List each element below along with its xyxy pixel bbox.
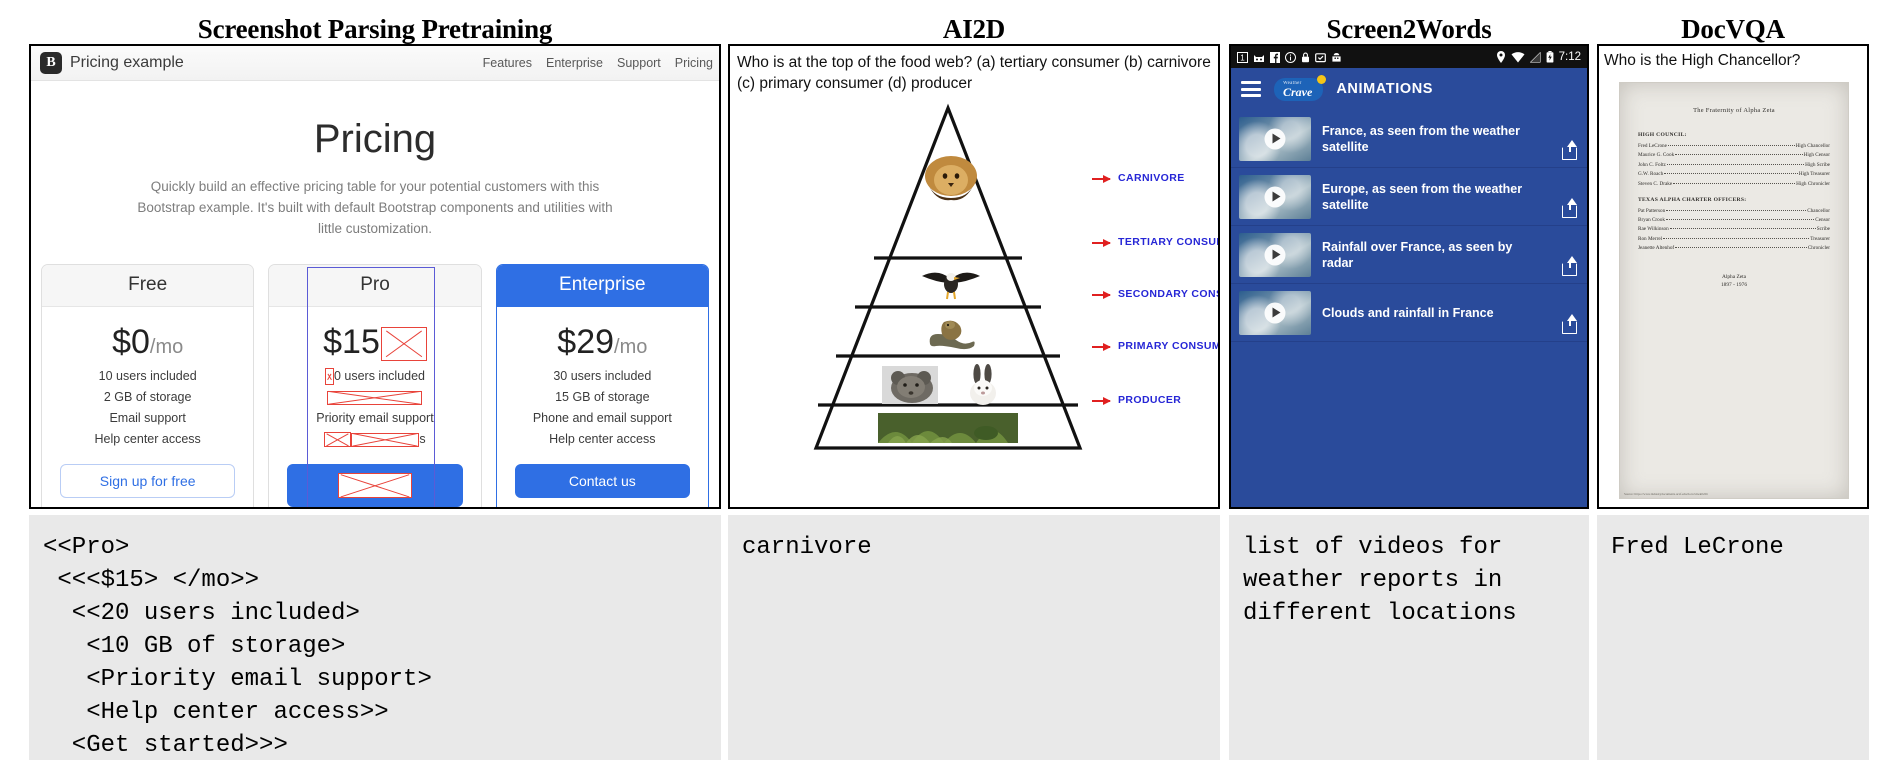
play-icon[interactable] — [1265, 302, 1286, 323]
document-row: Ron Merrel Treasurer — [1638, 236, 1830, 242]
column-title-text: Screenshot Parsing Pretraining — [198, 14, 552, 44]
crave-logo: Weather Crave — [1274, 78, 1323, 101]
card-cta-wrap: Sign up for free — [42, 464, 253, 509]
leader-dots — [1666, 219, 1814, 220]
share-icon[interactable] — [1562, 321, 1577, 334]
officer-name: Pat Patterson — [1638, 208, 1665, 214]
leader-dots — [1673, 183, 1795, 184]
arrow-tertiary-consumer — [1092, 242, 1110, 244]
bootstrap-logo-icon: B — [40, 52, 62, 74]
officer-role: High Scribe — [1805, 162, 1830, 168]
feature-item: Priority email support — [269, 408, 480, 429]
feature-item: Help center access — [42, 429, 253, 450]
feature-item: Email support — [42, 408, 253, 429]
food-pyramid-diagram: CARNIVORE TERTIARY CONSUMER — [730, 98, 1218, 507]
app-bar-title: ANIMATIONS — [1336, 81, 1433, 97]
feature-item: 10 users included — [42, 366, 253, 387]
price-amount: $15 — [323, 323, 380, 361]
nav-link-enterprise[interactable]: Enterprise — [546, 56, 603, 70]
officer-role: Chronicler — [1808, 245, 1830, 251]
video-thumbnail — [1239, 291, 1311, 335]
officer-role: Chancellor — [1807, 208, 1830, 214]
card-features: 0 users included Priority email support … — [269, 366, 480, 464]
card-cta-wrap: Contact us — [497, 464, 708, 509]
footer-name: Alpha Zeta — [1638, 273, 1830, 281]
bootstrap-navbar: B Pricing example Features Enterprise Su… — [31, 46, 719, 81]
video-title: France, as seen from the weather satelli… — [1322, 123, 1527, 155]
card-title: Free — [42, 265, 253, 307]
officer-name: Bryan Crook — [1638, 217, 1665, 223]
column-title-text: Screen2Words — [1326, 14, 1491, 44]
video-thumbnail — [1239, 233, 1311, 277]
lion-image — [920, 154, 982, 202]
officer-role: High Censor — [1804, 152, 1830, 158]
arrow-producer — [1092, 400, 1110, 402]
column-title-screen2words: Screen2Words — [1229, 14, 1589, 45]
status-clock: 7:12 — [1559, 51, 1581, 63]
masked-feature-line — [327, 391, 422, 405]
leader-dots — [1666, 210, 1806, 211]
app-bar: Weather Crave ANIMATIONS — [1231, 68, 1587, 110]
masked-digit — [325, 368, 334, 385]
document-row: Rae Wilkinson Scribe — [1638, 226, 1830, 232]
card-price: $29/mo — [497, 307, 708, 366]
pricing-card-pro: Pro $15 0 users included Priority email … — [268, 264, 481, 509]
leader-dots — [1664, 173, 1797, 174]
masked-feature-start — [324, 432, 351, 447]
ai2d-question: Who is at the top of the food web? (a) t… — [737, 52, 1211, 94]
mouse-image — [882, 366, 938, 404]
price-period: /mo — [614, 336, 647, 358]
nav-link-support[interactable]: Support — [617, 56, 661, 70]
hamburger-icon[interactable] — [1241, 81, 1261, 97]
officer-name: Ron Merrel — [1638, 236, 1662, 242]
officer-role: High Treasurer — [1799, 171, 1830, 177]
label-carnivore: CARNIVORE — [1118, 172, 1185, 184]
leader-dots — [1668, 145, 1795, 146]
nav-link-pricing[interactable]: Pricing — [675, 56, 713, 70]
masked-button-label — [338, 473, 412, 498]
document-row: Jeanette Altenhof Chronicler — [1638, 245, 1830, 251]
video-title: Europe, as seen from the weather satelli… — [1322, 181, 1527, 213]
label-tertiary-consumer: TERTIARY CONSUMER — [1118, 236, 1220, 248]
price-amount: $29 — [557, 323, 614, 361]
feature-item: 0 users included — [269, 366, 480, 387]
price-amount: $0 — [112, 323, 150, 361]
pricing-card-enterprise: Enterprise $29/mo 30 users included 15 G… — [496, 264, 709, 509]
footer-years: 1897 - 1976 — [1638, 281, 1830, 289]
label-secondary-consumer: SECONDARY CONSUMER — [1118, 288, 1220, 300]
caption-screen2words: list of videos for weather reports in di… — [1229, 515, 1589, 760]
lock-icon — [1301, 52, 1310, 63]
figure-root: Screenshot Parsing Pretraining AI2D Scre… — [0, 0, 1896, 782]
arrow-secondary-consumer — [1092, 294, 1110, 296]
crave-logo-main-text: Crave — [1283, 85, 1312, 99]
section-heading: TEXAS ALPHA CHARTER OFFICERS: — [1638, 197, 1830, 203]
feature-item: 2 GB of storage — [42, 387, 253, 408]
document-source-credit: Source: https://www.industrydocuments.uc… — [1624, 492, 1844, 496]
plants-image — [878, 413, 1018, 443]
panel-screenshot-parsing: B Pricing example Features Enterprise Su… — [29, 44, 721, 509]
feature-text: 0 users included — [334, 369, 425, 383]
column-title-docvqa: DocVQA — [1597, 14, 1869, 45]
navbar-links: Features Enterprise Support Pricing — [483, 56, 719, 70]
officer-role: High Chronicler — [1796, 181, 1830, 187]
card-price: $15 — [269, 307, 480, 366]
panel-ai2d: Who is at the top of the food web? (a) t… — [728, 44, 1220, 509]
leader-dots — [1667, 164, 1804, 165]
column-title-text: DocVQA — [1681, 14, 1785, 44]
document-row: Pat Patterson Chancellor — [1638, 208, 1830, 214]
video-title: Clouds and rainfall in France — [1322, 305, 1494, 321]
document-row: Steven C. Drake High Chronicler — [1638, 181, 1830, 187]
video-title: Rainfall over France, as seen by radar — [1322, 239, 1527, 271]
caption-screenshot-parsing: <<Pro> <<<$15> </mo>> <<20 users include… — [29, 515, 721, 760]
cat-icon — [1253, 52, 1265, 63]
officer-name: John C. Foltz — [1638, 162, 1666, 168]
officer-name: Steven C. Drake — [1638, 181, 1672, 187]
leader-dots — [1675, 247, 1807, 248]
feature-text: s — [419, 432, 425, 446]
contact-us-button[interactable]: Contact us — [515, 464, 690, 498]
label-producer: PRODUCER — [1118, 394, 1181, 406]
document-row: Maurice G. Cook High Censor — [1638, 152, 1830, 158]
list-item[interactable]: France, as seen from the weather satelli… — [1231, 110, 1587, 168]
officer-role: Scribe — [1817, 226, 1830, 232]
navbar-brand[interactable]: Pricing example — [70, 54, 184, 72]
scanned-document: The Fraternity of Alpha Zeta HIGH COUNCI… — [1619, 82, 1849, 499]
column-title-ai2d: AI2D — [728, 14, 1220, 45]
card-title: Pro — [269, 265, 480, 307]
masked-feature-middle — [351, 433, 419, 447]
share-icon[interactable] — [1562, 205, 1577, 218]
card-features: 30 users included 15 GB of storage Phone… — [497, 366, 708, 464]
docvqa-question: Who is the High Chancellor? — [1604, 51, 1862, 71]
svg-text:1: 1 — [1240, 53, 1245, 62]
status-right-icons: 7:12 — [1496, 51, 1581, 63]
share-icon[interactable] — [1562, 263, 1577, 276]
battery-icon — [1546, 51, 1554, 63]
leader-dots — [1663, 238, 1809, 239]
officer-name: Maurice G. Cook — [1638, 152, 1674, 158]
pricing-hero: Pricing Quickly build an effective prici… — [31, 81, 719, 239]
android-status-bar: 1 — [1231, 46, 1587, 68]
officer-name: Fred LeCrone — [1638, 143, 1667, 149]
video-thumbnail — [1239, 175, 1311, 219]
facebook-icon — [1270, 52, 1280, 63]
officer-role: High Chancellor — [1796, 143, 1830, 149]
play-icon[interactable] — [1265, 128, 1286, 149]
column-title-screenshot-parsing: Screenshot Parsing Pretraining — [29, 14, 721, 45]
panel-screen2words: 1 — [1229, 44, 1589, 509]
nav-link-features[interactable]: Features — [483, 56, 532, 70]
location-icon — [1496, 51, 1506, 63]
crave-logo-small-text: Weather — [1283, 81, 1312, 86]
snake-image — [926, 316, 978, 352]
signup-for-free-button[interactable]: Sign up for free — [60, 464, 235, 498]
get-started-button[interactable] — [287, 464, 462, 507]
list-item[interactable]: Europe, as seen from the weather satelli… — [1231, 168, 1587, 226]
signal-icon — [1530, 52, 1541, 63]
officer-name: Jeanette Altenhof — [1638, 245, 1674, 251]
feature-item — [269, 387, 480, 408]
caption-ai2d: carnivore — [728, 515, 1220, 760]
label-primary-consumer: PRIMARY CONSUMER — [1118, 340, 1220, 352]
info-icon — [1285, 52, 1296, 63]
video-thumbnail — [1239, 117, 1311, 161]
feature-item: 15 GB of storage — [497, 387, 708, 408]
card-title: Enterprise — [497, 265, 708, 307]
pricing-card-free: Free $0/mo 10 users included 2 GB of sto… — [41, 264, 254, 509]
document-footer: Alpha Zeta 1897 - 1976 — [1638, 273, 1830, 289]
document-row: John C. Foltz High Scribe — [1638, 162, 1830, 168]
panel-docvqa: Who is the High Chancellor? The Fraterni… — [1597, 44, 1869, 509]
feature-item: Help center access — [497, 429, 708, 450]
document-row: Fred LeCrone High Chancellor — [1638, 143, 1830, 149]
list-item[interactable]: Clouds and rainfall in France — [1231, 284, 1587, 342]
section-heading: HIGH COUNCIL: — [1638, 132, 1830, 138]
officer-name: Rae Wilkinson — [1638, 226, 1669, 232]
officer-role: Censor — [1815, 217, 1830, 223]
pricing-cards: Free $0/mo 10 users included 2 GB of sto… — [41, 264, 709, 509]
play-icon[interactable] — [1265, 244, 1286, 265]
notification-icon: 1 — [1237, 52, 1248, 63]
feature-item: 30 users included — [497, 366, 708, 387]
card-features: 10 users included 2 GB of storage Email … — [42, 366, 253, 464]
arrow-primary-consumer — [1092, 346, 1110, 348]
eagle-image — [918, 266, 984, 302]
share-icon[interactable] — [1562, 147, 1577, 160]
document-title: The Fraternity of Alpha Zeta — [1638, 107, 1830, 114]
crave-logo-dot-icon — [1317, 75, 1326, 84]
play-icon[interactable] — [1265, 186, 1286, 207]
masked-price-period — [381, 327, 427, 361]
leader-dots — [1675, 154, 1802, 155]
rabbit-image — [962, 364, 1004, 406]
caption-docvqa: Fred LeCrone — [1597, 515, 1869, 760]
document-row: Bryan Crook Censor — [1638, 217, 1830, 223]
card-price: $0/mo — [42, 307, 253, 366]
officer-role: Treasurer — [1810, 236, 1830, 242]
feature-item: s — [269, 429, 480, 450]
video-list: France, as seen from the weather satelli… — [1231, 110, 1587, 507]
card-cta-wrap — [269, 464, 480, 509]
list-item[interactable]: Rainfall over France, as seen by radar — [1231, 226, 1587, 284]
price-period: /mo — [150, 336, 183, 358]
android-icon — [1331, 52, 1342, 63]
column-title-text: AI2D — [943, 14, 1005, 44]
feature-item: Phone and email support — [497, 408, 708, 429]
leader-dots — [1670, 228, 1816, 229]
arrow-carnivore — [1092, 178, 1110, 180]
page-subtitle: Quickly build an effective pricing table… — [135, 176, 615, 239]
page-title: Pricing — [31, 117, 719, 162]
document-row: G.W. Roach High Treasurer — [1638, 171, 1830, 177]
wifi-icon — [1511, 52, 1525, 63]
screenshot-icon — [1315, 52, 1326, 63]
officer-name: G.W. Roach — [1638, 171, 1663, 177]
